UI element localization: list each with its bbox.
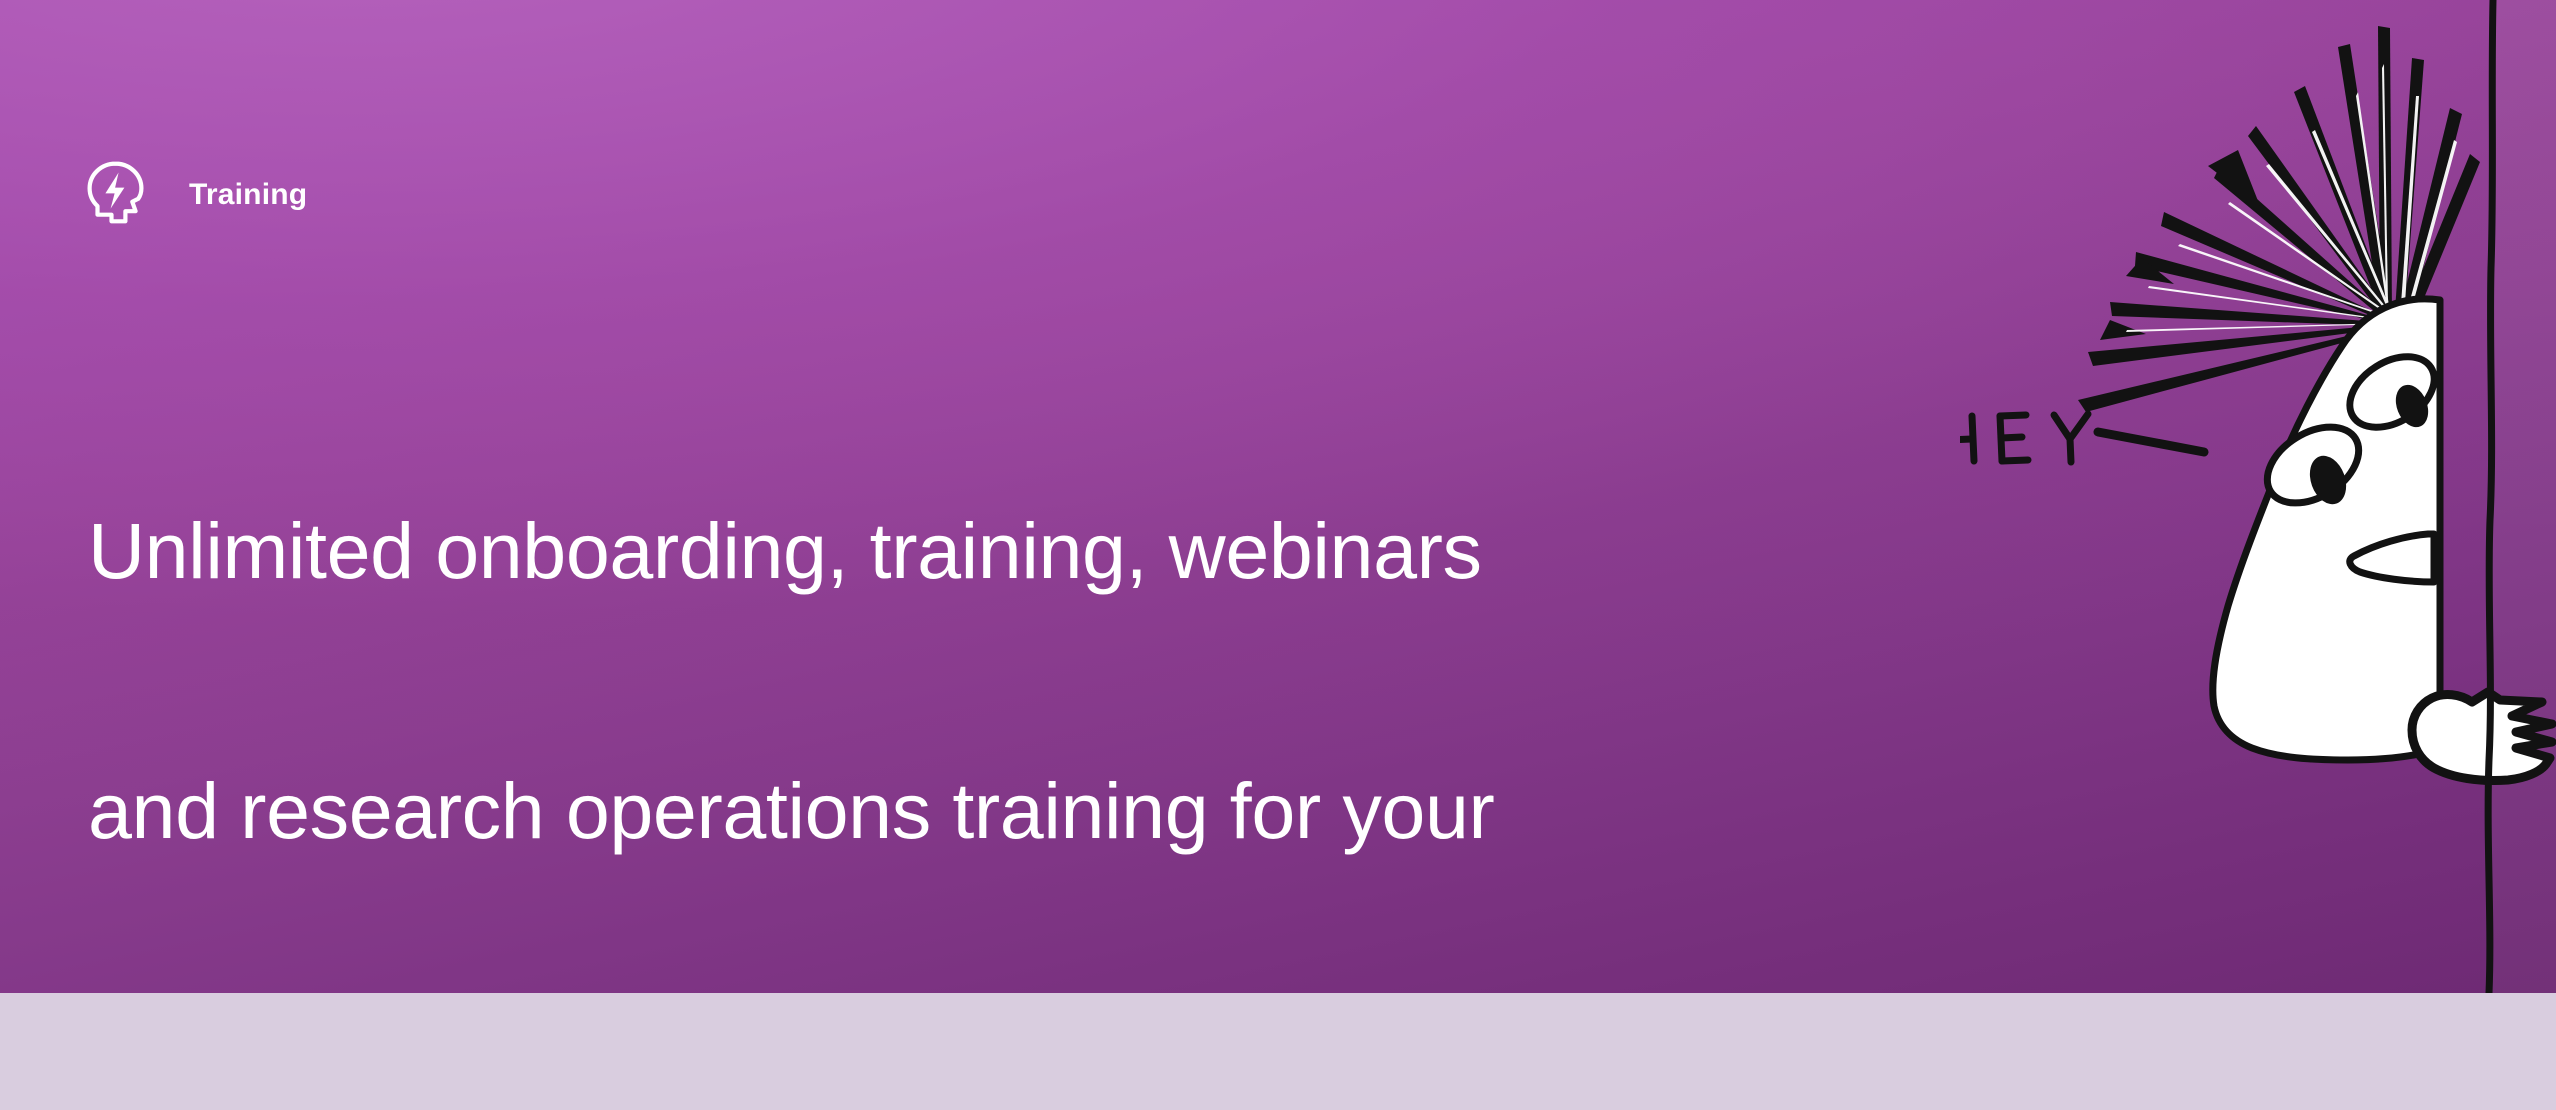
character-right-eye — [2337, 342, 2447, 442]
page-root: Training Unlimited onboarding, training,… — [0, 0, 2556, 1110]
peeking-character-illustration — [1960, 0, 2556, 993]
speech-dash — [2098, 432, 2204, 452]
hero-headline: Unlimited onboarding, training, webinars… — [88, 336, 1788, 993]
vertical-edge-line — [2488, 0, 2493, 993]
hero-right-wash — [2492, 0, 2556, 993]
character-mouth — [2350, 534, 2434, 582]
speech-text-hey — [1960, 414, 2088, 462]
head-lightning-icon — [85, 161, 147, 229]
headline-line-2: and research operations training for you… — [88, 768, 1788, 856]
character-head — [2213, 299, 2440, 760]
spiky-hair-highlights — [2126, 64, 2457, 332]
character-hand — [2412, 692, 2552, 781]
character-left-eye — [2254, 411, 2373, 518]
eyebrow-label: Training — [189, 180, 307, 210]
eyebrow-group: Training — [85, 160, 307, 230]
headline-line-1: Unlimited onboarding, training, webinars — [88, 508, 1788, 596]
lower-band — [0, 993, 2556, 1110]
training-hero-banner: Training Unlimited onboarding, training,… — [0, 0, 2556, 993]
spiky-hair — [2078, 26, 2480, 412]
